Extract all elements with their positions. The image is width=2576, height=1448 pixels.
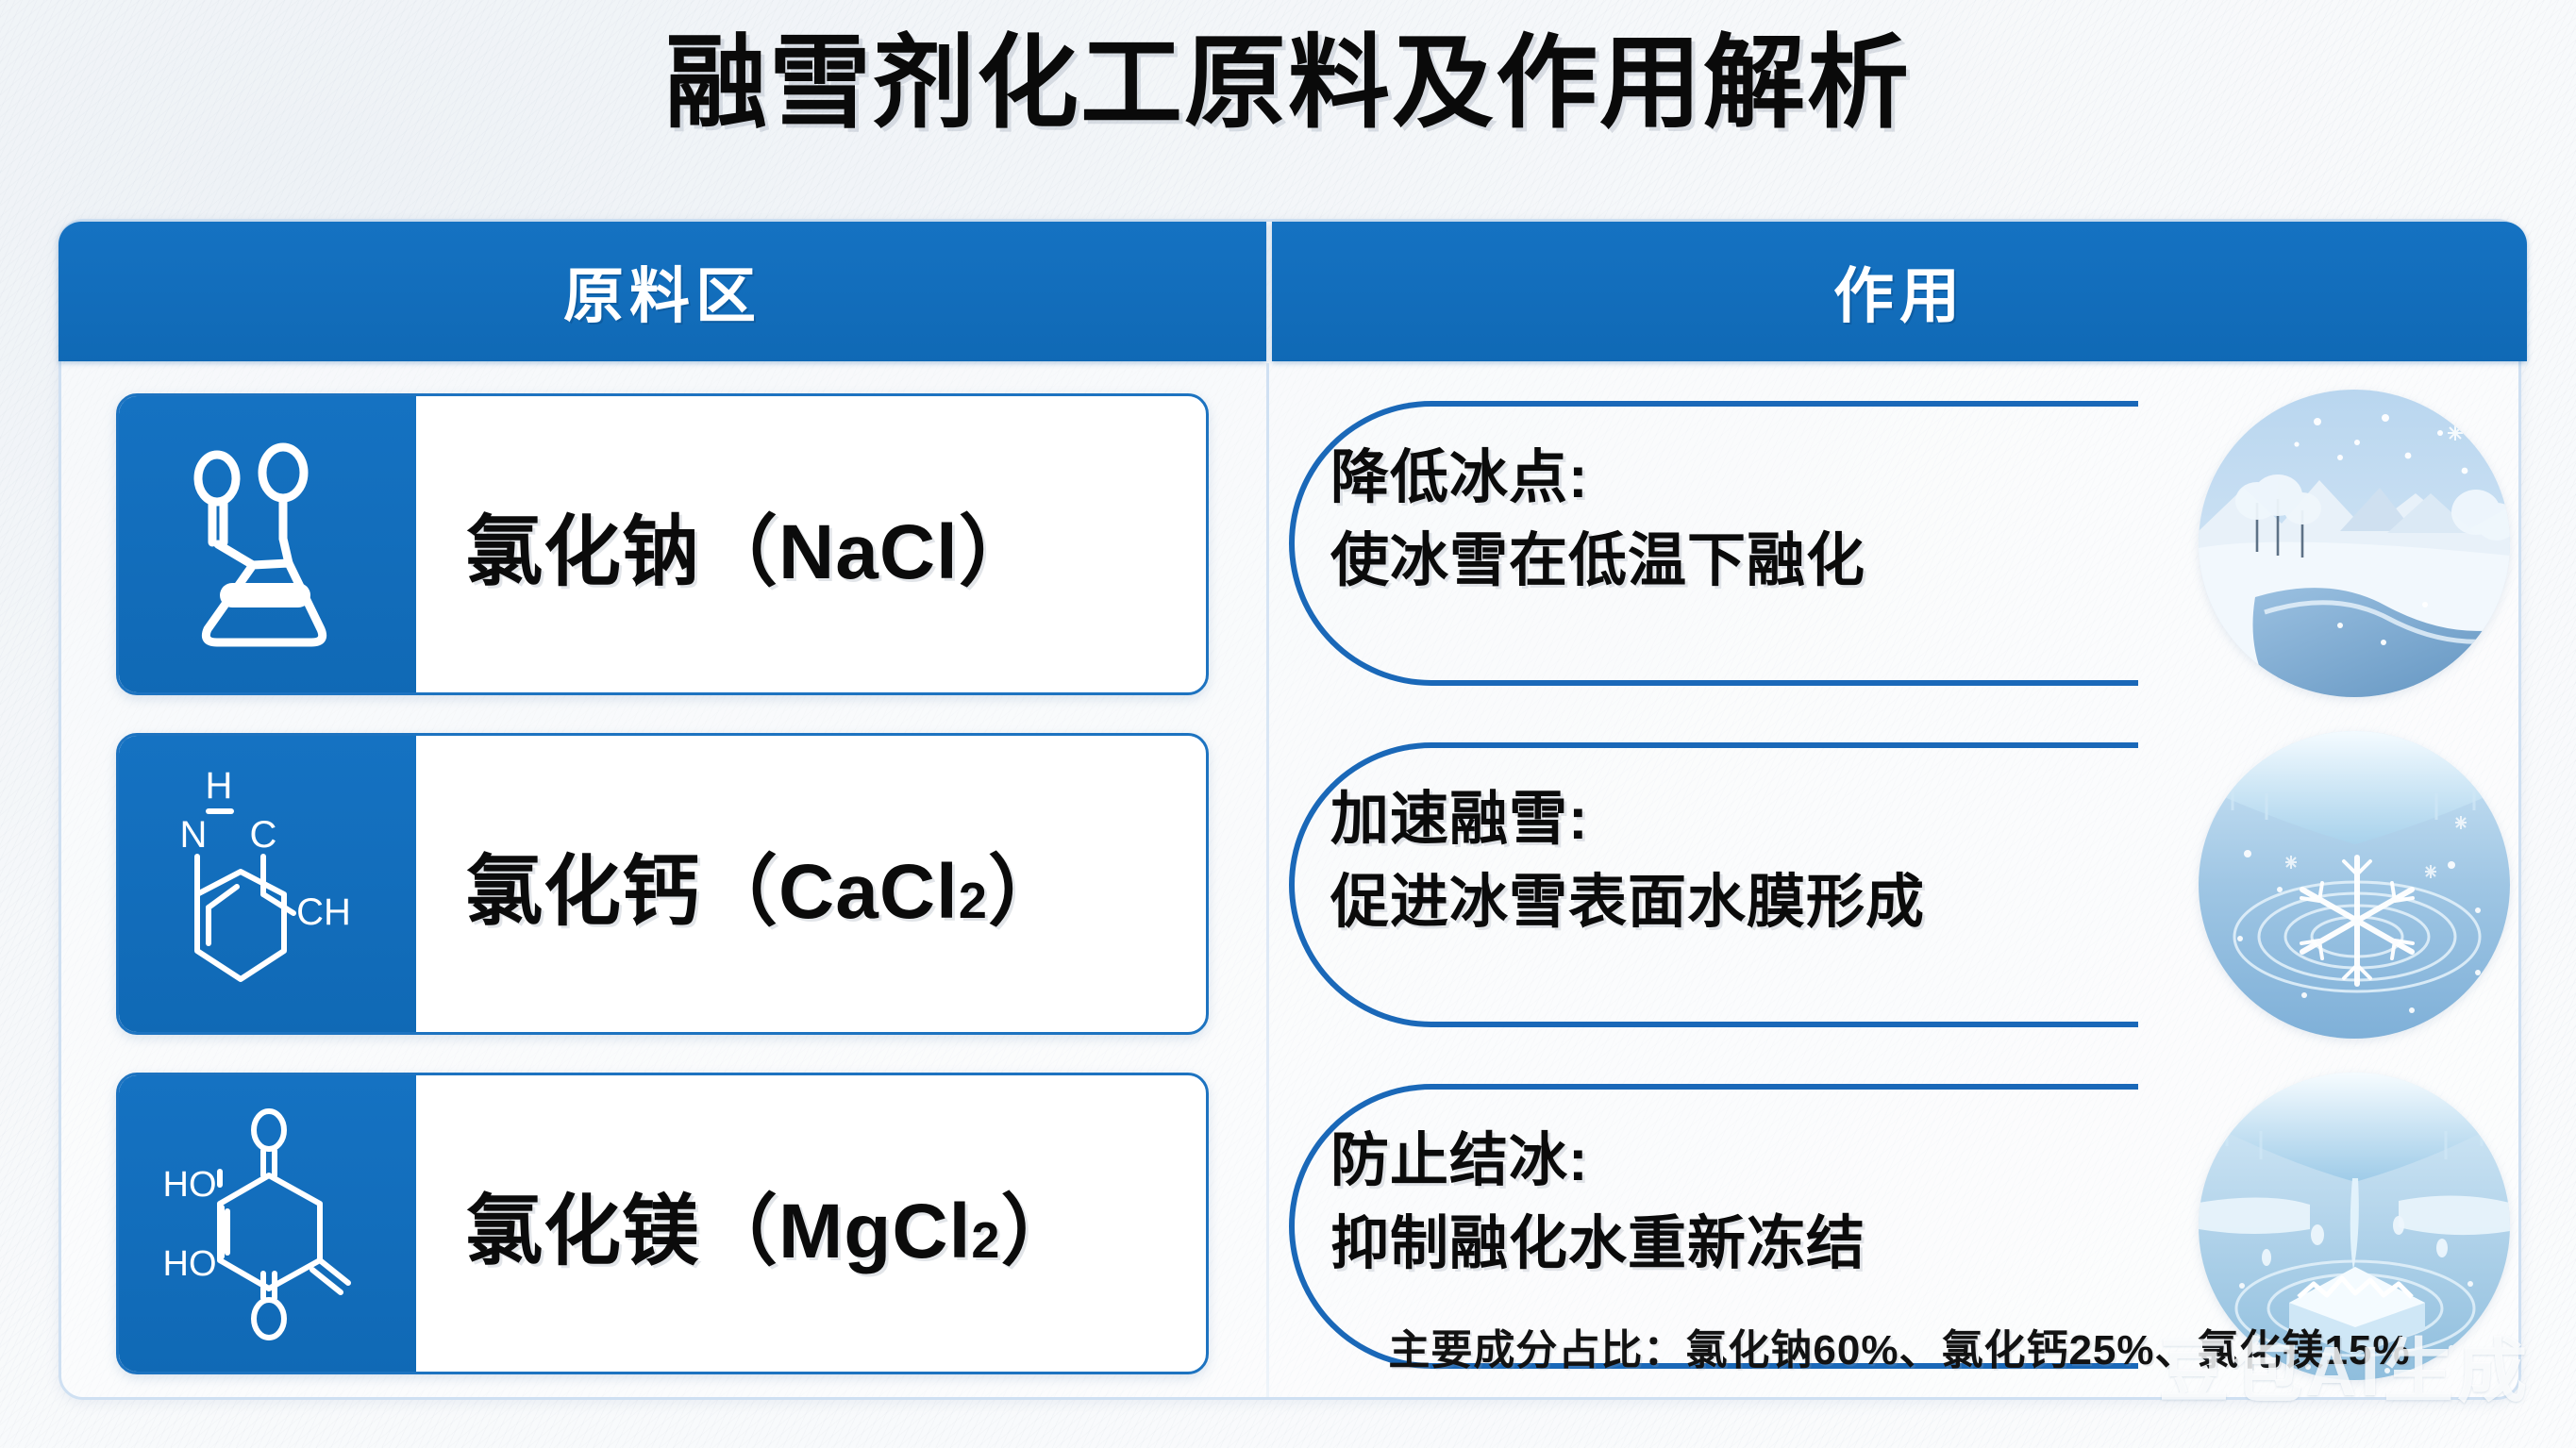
material-name-calcium-chloride: 氯化钙（CaCl — [465, 828, 959, 940]
table-header-row: 原料区 作用 — [61, 222, 2518, 361]
snowflake-water-ripple-image — [2199, 731, 2510, 1039]
svg-text:CH: CH — [296, 891, 351, 933]
material-name-magnesium-chloride: 氯化镁（MgCl — [465, 1168, 971, 1280]
effect-rail-top — [1515, 742, 2119, 748]
material-column-header-label: 原料区 — [563, 248, 761, 335]
svg-text:N: N — [179, 814, 207, 856]
flask-molecule-icon — [116, 393, 416, 695]
material-label-magnesium-chloride: 氯化镁（MgCl2） — [416, 1075, 1206, 1372]
effect-rail-bottom — [1515, 1022, 2119, 1027]
effect-detail-2: 促进冰雪表面水膜形成 — [1330, 861, 2123, 944]
effect-heading-2: 加速融雪: — [1330, 778, 2123, 861]
benzene-ring-molecule-icon: H N C CH — [116, 733, 416, 1035]
composition-footnote: 主要成分占比：氯化钠60%、氯化钙25%、氯化镁15% — [1272, 1316, 2527, 1376]
material-column-header: 原料区 — [59, 222, 1266, 361]
page-title: 融雪剂化工原料及作用解析 — [0, 23, 2576, 142]
svg-text:H: H — [205, 766, 232, 807]
effect-detail-1: 使冰雪在低温下融化 — [1330, 520, 2123, 603]
effect-text-prevent-icing: 防止结冰: 抑制融化水重新冻结 — [1330, 1120, 2123, 1286]
material-subscript-2b: 2 — [971, 1211, 1000, 1270]
svg-text:HO: HO — [163, 1165, 217, 1205]
column-divider — [1266, 363, 1269, 1397]
material-column: 氯化钠（NaCl） H N C CH — [61, 361, 1266, 1403]
effect-detail-3: 抑制融化水重新冻结 — [1330, 1203, 2123, 1286]
effect-column-header-label: 作用 — [1833, 248, 1965, 335]
material-label-sodium-chloride: 氯化钠（NaCl） — [416, 396, 1206, 692]
effect-row-lower-freezing-point[interactable]: 降低冰点: 使冰雪在低温下融化 — [1272, 388, 2527, 699]
material-paren-close: ） — [988, 828, 1066, 940]
material-card-magnesium-chloride[interactable]: HO HO 氯化镁（MgCl2） — [116, 1073, 1209, 1374]
effect-heading-3: 防止结冰: — [1330, 1120, 2123, 1203]
material-paren-close-2: ） — [1000, 1168, 1079, 1280]
effect-rail-bottom — [1515, 680, 2119, 686]
effect-text-lower-freezing-point: 降低冰点: 使冰雪在低温下融化 — [1330, 437, 2123, 603]
snowy-river-landscape-image — [2199, 390, 2510, 697]
content-panel: 原料区 作用 氯 — [59, 219, 2521, 1400]
svg-text:HO: HO — [163, 1244, 217, 1284]
material-name-sodium-chloride: 氯化钠（NaCl） — [465, 489, 1037, 601]
effect-column: 降低冰点: 使冰雪在低温下融化 — [1272, 361, 2527, 1403]
effect-column-header: 作用 — [1272, 222, 2527, 361]
svg-text:C: C — [249, 814, 276, 856]
material-label-calcium-chloride: 氯化钙（CaCl2） — [416, 736, 1206, 1032]
effect-text-accelerate-melting: 加速融雪: 促进冰雪表面水膜形成 — [1330, 778, 2123, 944]
effect-heading-1: 降低冰点: — [1330, 437, 2123, 520]
effect-rail-top — [1515, 401, 2119, 407]
material-subscript-2: 2 — [959, 872, 988, 930]
material-card-calcium-chloride[interactable]: H N C CH 氯化钙（CaCl2） — [116, 733, 1209, 1035]
quinone-molecule-icon: HO HO — [116, 1073, 416, 1374]
material-card-sodium-chloride[interactable]: 氯化钠（NaCl） — [116, 393, 1209, 695]
effect-row-accelerate-melting[interactable]: 加速融雪: 促进冰雪表面水膜形成 — [1272, 729, 2527, 1040]
effect-rail-top — [1515, 1084, 2119, 1090]
